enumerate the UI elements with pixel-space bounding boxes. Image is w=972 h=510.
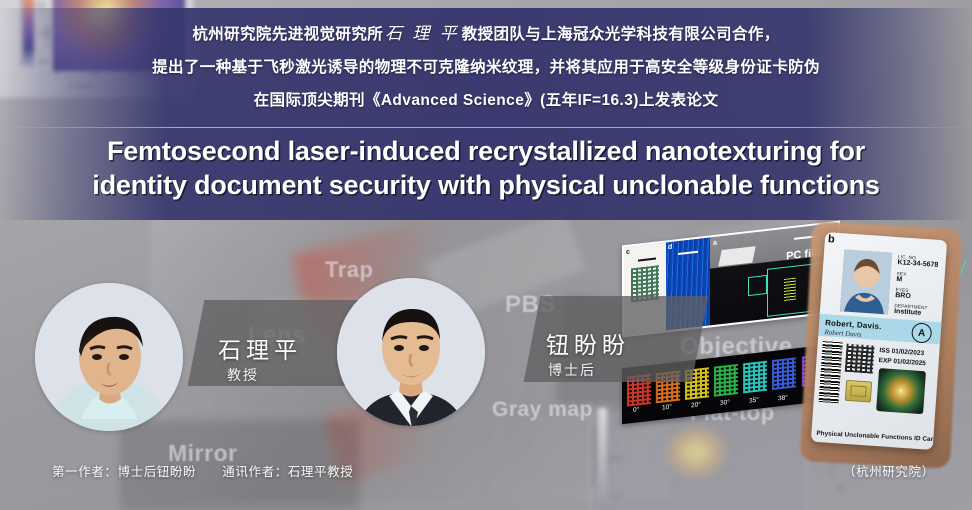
paper-title: Femtosecond laser-induced recrystallized…: [0, 134, 972, 202]
person-2-title: 博士后: [548, 360, 596, 380]
lic-no-value: K12-34-5678: [897, 259, 938, 269]
smart-chip: [845, 380, 872, 403]
flat-top-ytick-2: 150: [609, 492, 622, 501]
puf-hologram: ●: [876, 368, 926, 414]
avatar-shi-liping: [35, 283, 183, 431]
avatar-niu-panpan: [337, 278, 485, 426]
paper-title-line-1: Femtosecond laser-induced recrystallized…: [0, 134, 972, 168]
angle-label-20: 20°: [691, 401, 701, 409]
scalebar-d: [678, 251, 698, 255]
id-photo: [840, 249, 892, 314]
angle-label-10: 10°: [662, 404, 672, 412]
person-1-name: 石理平: [218, 331, 302, 365]
panel-label-b: b: [828, 233, 836, 245]
secondary-ytick-2: 80: [837, 484, 846, 493]
department-value: Institute: [894, 308, 922, 317]
banner-line1-pre: 杭州研究院先进视觉研究所: [192, 26, 383, 43]
scene-white-block: [718, 246, 755, 266]
label-trap: Trap: [325, 257, 373, 283]
phase-cbtick-0: 0: [614, 406, 618, 415]
flat-top-ytick-1: 100: [609, 454, 622, 463]
banner-chinese-block: 杭州研究院先进视觉研究所石 理 平教授团队与上海冠众光学科技有限公司合作， 提出…: [0, 8, 972, 120]
qr-angle-35: [743, 361, 767, 394]
source-credit: （杭州研究院）: [843, 461, 935, 480]
angle-label-35: 35°: [749, 397, 759, 405]
banner-line-1: 杭州研究院先进视觉研究所石 理 平教授团队与上海冠众光学科技有限公司合作，: [192, 19, 779, 44]
paper-title-line-2: identity document security with physical…: [0, 168, 972, 202]
person-2-name: 钮盼盼: [546, 326, 630, 360]
angle-label-30: 30°: [720, 399, 730, 407]
id-card-footer: Physical Unclonable Functions ID Card: [816, 430, 937, 443]
issue-expiry-block: ISS 01/02/2023 EXP 01/02/2025: [878, 346, 927, 369]
flat-top-beam-blob: [663, 424, 729, 480]
panel-label-d: d: [668, 244, 672, 251]
qr-angle-30: [714, 364, 738, 397]
flat-top-ytick-0: 50: [613, 418, 622, 427]
sex-value: M: [896, 276, 902, 283]
panel-label-c: c: [626, 249, 630, 256]
roi-box-1: [748, 275, 767, 296]
hologram-seal-text: ●: [876, 368, 926, 414]
banner-divider: [0, 127, 972, 128]
issue-label: ISS: [879, 347, 890, 355]
id-portrait-illustration: [840, 249, 892, 314]
expiry-label: EXP: [878, 357, 891, 365]
panel-label-a: a: [713, 240, 717, 247]
phase-difference-colorbar: [598, 408, 607, 508]
expiry-date: 01/02/2025: [893, 358, 926, 367]
authors-credit: 第一作者：博士后钮盼盼 通讯作者：石理平教授: [52, 461, 353, 480]
header-banner: 杭州研究院先进视觉研究所石 理 平教授团队与上海冠众光学科技有限公司合作， 提出…: [0, 8, 972, 220]
eyes-value: BRO: [895, 292, 911, 300]
phase-difference-label: Phase difference: [590, 426, 599, 486]
banner-line1-post: 教授团队与上海冠众光学科技有限公司合作，: [462, 26, 780, 43]
issue-date: 01/02/2023: [891, 348, 924, 357]
person-1-title: 教授: [227, 365, 259, 385]
poster-root: Normalized Intensity Y (μm) X (μm) 50 10…: [0, 0, 972, 510]
scalebar-c: [638, 258, 656, 262]
id-qr-code: [845, 344, 875, 374]
banner-line-3: 在国际顶尖期刊《Advanced Science》(五年IF=16.3)上发表论…: [254, 88, 719, 110]
banner-line1-name: 石 理 平: [383, 24, 462, 43]
label-gray-map: Gray map: [492, 398, 593, 422]
banner-line-2: 提出了一种基于飞秒激光诱导的物理不可克隆纳米纹理，并将其应用于高安全等级身份证卡…: [152, 55, 820, 77]
id-card: b LIC. NO. K12-34-5678 SEX M EYES BRO DE…: [811, 232, 947, 450]
barcode: [819, 340, 843, 403]
holder-signature: Robert Davis: [824, 328, 862, 339]
angle-label-0: 0°: [633, 406, 639, 414]
